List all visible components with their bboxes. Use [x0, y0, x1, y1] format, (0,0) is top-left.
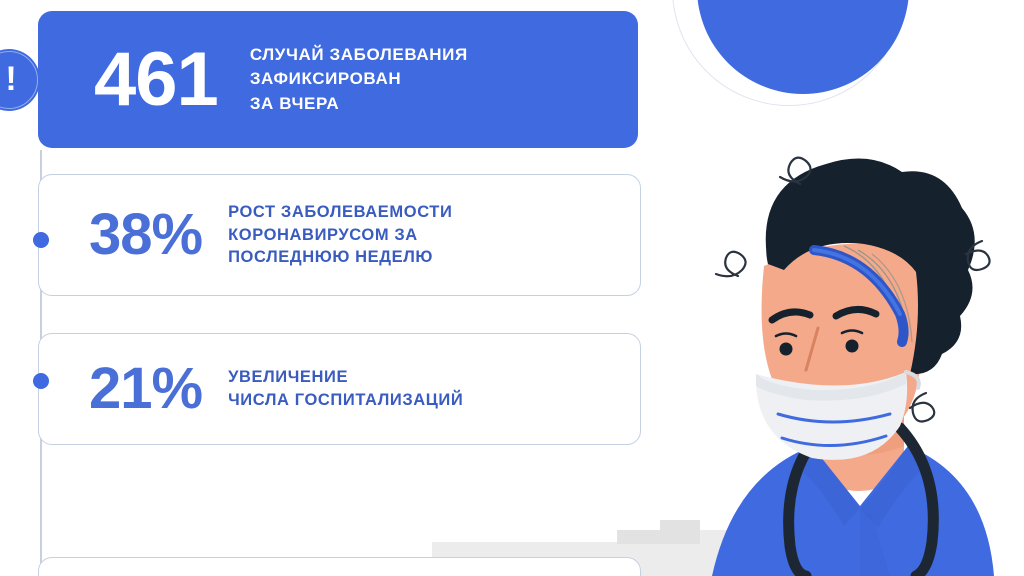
stat-line: РОСТ ЗАБОЛЕВАЕМОСТИ	[228, 201, 452, 224]
stat-card-weekly-growth[interactable]: 38% РОСТ ЗАБОЛЕВАЕМОСТИ КОРОНАВИРУСОМ ЗА…	[38, 174, 641, 296]
doctor-in-mask-illustration	[694, 146, 1024, 576]
stat-number: 21%	[89, 360, 202, 418]
stat-card-next-partial[interactable]	[38, 557, 641, 576]
stat-card-cases-yesterday[interactable]: 461 СЛУЧАЙ ЗАБОЛЕВАНИЯ ЗАФИКСИРОВАН ЗА В…	[38, 11, 638, 148]
stat-line: ЧИСЛА ГОСПИТАЛИЗАЦИЙ	[228, 389, 463, 412]
stat-card-hospitalizations[interactable]: 21% УВЕЛИЧЕНИЕ ЧИСЛА ГОСПИТАЛИЗАЦИЙ	[38, 333, 641, 445]
stat-line: КОРОНАВИРУСОМ ЗА	[228, 224, 452, 247]
exclamation-icon: !	[0, 49, 40, 111]
exclamation-glyph: !	[5, 62, 16, 96]
stat-description: УВЕЛИЧЕНИЕ ЧИСЛА ГОСПИТАЛИЗАЦИЙ	[228, 366, 463, 412]
stat-line: ЗАФИКСИРОВАН	[250, 67, 468, 91]
stat-line: ЗА ВЧЕРА	[250, 92, 468, 116]
stat-description: РОСТ ЗАБОЛЕВАЕМОСТИ КОРОНАВИРУСОМ ЗА ПОС…	[228, 201, 452, 269]
stat-line: СЛУЧАЙ ЗАБОЛЕВАНИЯ	[250, 43, 468, 67]
stat-line: УВЕЛИЧЕНИЕ	[228, 366, 463, 389]
timeline-dot-card-2	[33, 232, 49, 248]
stat-description: СЛУЧАЙ ЗАБОЛЕВАНИЯ ЗАФИКСИРОВАН ЗА ВЧЕРА	[250, 43, 468, 115]
infographic-slide: ! 461 СЛУЧАЙ ЗАБОЛЕВАНИЯ ЗАФИКСИРОВАН ЗА…	[0, 0, 1024, 576]
stat-number: 461	[94, 42, 218, 118]
stat-number: 38%	[89, 206, 202, 264]
stat-line: ПОСЛЕДНЮЮ НЕДЕЛЮ	[228, 246, 452, 269]
timeline-dot-card-3	[33, 373, 49, 389]
